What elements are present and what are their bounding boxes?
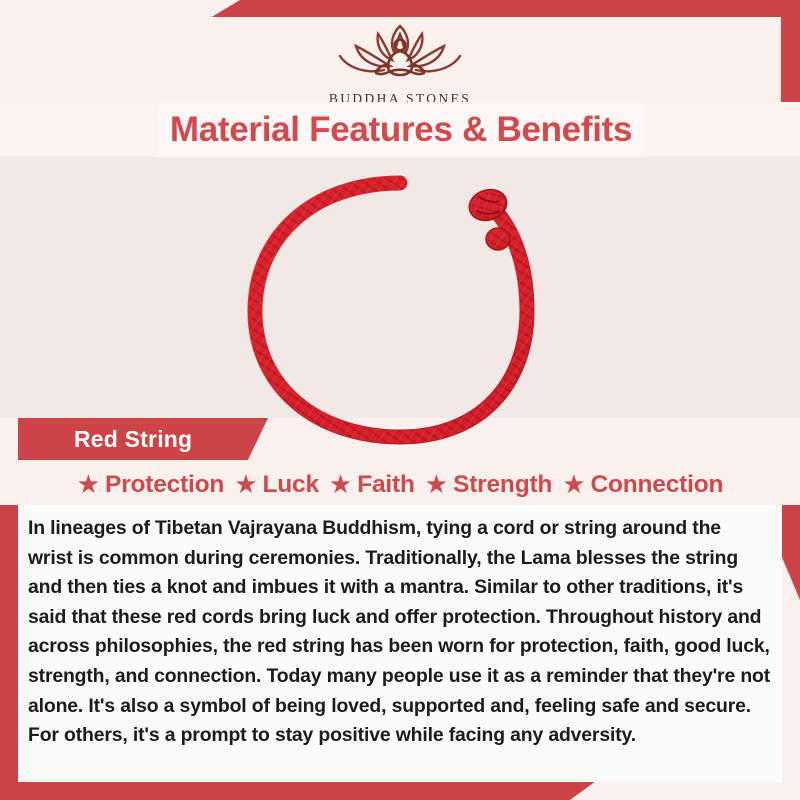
- feature-item-protection: ★ Protection: [77, 471, 224, 499]
- star-icon: ★: [234, 471, 257, 497]
- lotus-meditation-icon: [326, 20, 474, 89]
- feature-label: Faith: [357, 471, 415, 499]
- frame-top-taper: [0, 0, 240, 18]
- star-icon: ★: [77, 471, 100, 497]
- product-image-band: [0, 157, 800, 418]
- star-icon: ★: [425, 471, 448, 497]
- star-icon: ★: [329, 471, 352, 497]
- feature-list: ★ Protection ★ Luck ★ Faith ★ Strength ★…: [0, 466, 800, 504]
- ribbon-red-string: Red String: [18, 418, 268, 460]
- description-text: In lineages of Tibetan Vajrayana Buddhis…: [28, 514, 770, 751]
- description-panel: In lineages of Tibetan Vajrayana Buddhis…: [18, 505, 782, 782]
- brand-logo: BUDDHA STONES: [0, 17, 800, 102]
- star-icon: ★: [562, 471, 585, 497]
- feature-item-faith: ★ Faith: [329, 471, 415, 499]
- feature-label: Luck: [263, 471, 319, 499]
- feature-label: Connection: [591, 471, 724, 499]
- feature-label: Protection: [105, 471, 224, 499]
- page-title-plate: Material Features & Benefits: [158, 102, 644, 157]
- feature-item-luck: ★ Luck: [234, 471, 319, 499]
- feature-label: Strength: [453, 471, 552, 499]
- feature-item-connection: ★ Connection: [562, 471, 723, 499]
- feature-item-strength: ★ Strength: [425, 471, 552, 499]
- frame-bottom-taper: [570, 781, 800, 800]
- ribbon-label: Red String: [18, 426, 192, 453]
- page-title: Material Features & Benefits: [170, 110, 632, 150]
